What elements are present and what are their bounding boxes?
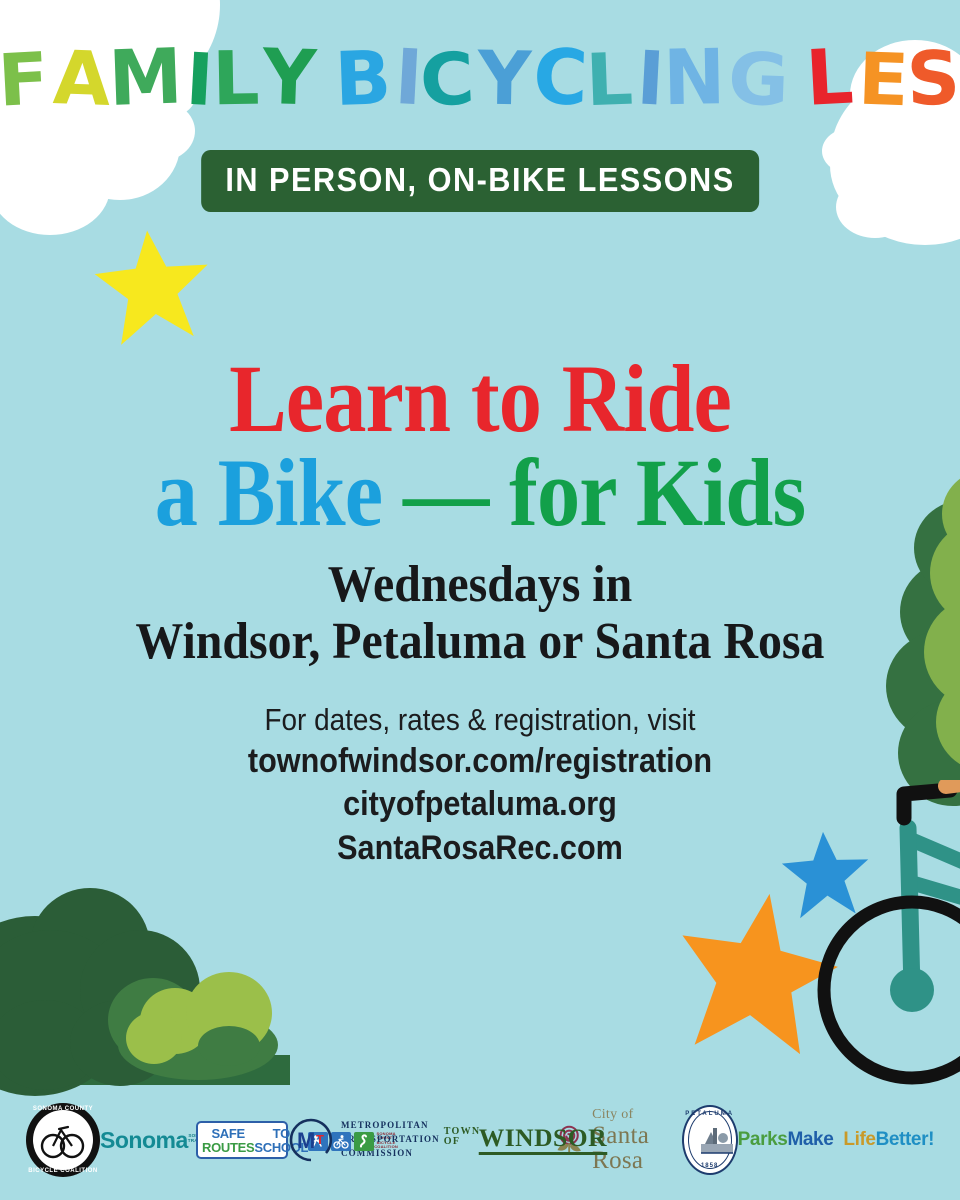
mtc-word-1: METROPOLITAN <box>341 1119 440 1133</box>
windsor-prefix: TOWN OF <box>440 1127 481 1147</box>
title-letter-m-2: M <box>107 39 184 118</box>
svg-text:T: T <box>316 1132 324 1147</box>
registration-block: For dates, rates & registration, visit t… <box>0 700 960 870</box>
title-letter-a-1: A <box>52 41 113 117</box>
parks-word-3: Life <box>833 1131 875 1149</box>
title-letter-space <box>316 42 336 116</box>
subheadline-line-1: Wednesdays in <box>38 556 921 613</box>
logo-parks-make-life-better: Parks Make Life Better! <box>738 1131 934 1149</box>
registration-url-petaluma[interactable]: cityofpetaluma.org <box>48 783 912 827</box>
bush-mid <box>118 1010 278 1080</box>
poster-title: FAMILY BICYCLING LESSONS <box>0 42 960 116</box>
title-letter-f-0: F <box>0 43 52 117</box>
svg-text:M: M <box>297 1128 315 1153</box>
main-headline: Learn to Ride a Bike — for Kids <box>0 352 960 540</box>
title-letter-c-9: C <box>418 43 477 118</box>
headline-dash: — <box>403 439 509 546</box>
title-letter-l-4: L <box>212 42 261 117</box>
title-letter-e-18: E <box>857 43 911 117</box>
cloud <box>836 176 914 238</box>
title-letter-n-14: N <box>662 39 726 116</box>
windsor-wordmark: WINDSOR <box>479 1126 607 1155</box>
headline-for-kids: for Kids <box>509 439 805 546</box>
petaluma-seal-emblem-icon <box>697 1120 737 1160</box>
cloud <box>0 140 110 235</box>
headline-line-1: Learn to Ride <box>48 352 912 446</box>
bush-dark <box>0 1000 100 1090</box>
scbc-badge-icon: SONOMA COUNTY BICYCLE COALITION <box>26 1103 100 1177</box>
logo-go-sonoma: Sonoma SONOMA COUNTY TRANSPORTATION AUTH… <box>100 1123 196 1157</box>
bush-dark <box>30 888 150 1006</box>
srts-routes-word: ROUTES <box>202 1140 254 1155</box>
bush-dark <box>80 930 200 1050</box>
headline-line-2: a Bike — for Kids <box>48 446 912 540</box>
bush-dark <box>0 930 130 1080</box>
parks-word-2: Make <box>787 1131 833 1149</box>
bush-dark <box>0 916 130 1096</box>
title-letter-l-17: L <box>804 39 856 118</box>
headline-a-bike: a Bike <box>155 439 403 546</box>
sponsor-logo-strip: SONOMA COUNTY BICYCLE COALITION <box>0 1080 960 1200</box>
title-letter-s-19: S <box>905 41 960 117</box>
title-letter-y-10: Y <box>477 42 533 117</box>
star-yellow-icon <box>86 222 220 352</box>
star-orange-icon <box>664 879 853 1064</box>
bush-dark <box>70 1000 170 1086</box>
title-letter-c-11: C <box>532 39 590 117</box>
bush-light <box>140 988 210 1054</box>
logo-town-of-windsor: TOWN OF WINDSOR <box>440 1121 552 1159</box>
parks-word-4: Better! <box>876 1131 934 1149</box>
title-letter-b-7: B <box>333 41 393 117</box>
subheadline-line-2: Windsor, Petaluma or Santa Rosa <box>38 613 921 670</box>
accessibility-icon <box>354 1132 374 1151</box>
go-sonoma-wordmark: Sonoma <box>100 1129 188 1152</box>
registration-intro: For dates, rates & registration, visit <box>48 700 912 740</box>
srts-line-1: SAFE ROUTES <box>202 1127 254 1154</box>
petaluma-seal-year: 1858 <box>684 1163 736 1169</box>
bush-light <box>126 1012 182 1064</box>
scbc-ring-top-text: SONOMA COUNTY <box>33 1106 93 1112</box>
cloud <box>822 128 880 174</box>
registration-url-santarosa[interactable]: SantaRosaRec.com <box>48 827 912 871</box>
logo-city-of-petaluma-seal: PETALUMA 1858 <box>682 1105 738 1175</box>
poster-canvas: FAMILY BICYCLING LESSONS IN PERSON, ON-B… <box>0 0 960 1200</box>
petaluma-seal-name: PETALUMA <box>684 1111 736 1117</box>
logo-safe-routes-to-school: SAFE ROUTES TO SCHOOL SONOMA COUNTY BICY… <box>196 1121 288 1159</box>
scbc-ring-bottom-text: BICYCLE COALITION <box>28 1168 98 1174</box>
bush-mid <box>108 978 198 1062</box>
mtc-mark-icon: M T <box>288 1117 334 1163</box>
bush-light <box>186 972 272 1054</box>
parks-word-1: Parks <box>738 1131 788 1149</box>
registration-url-windsor[interactable]: townofwindsor.com/registration <box>48 740 912 784</box>
santa-rosa-prefix: City of <box>592 1108 682 1122</box>
subheadline: Wednesdays in Windsor, Petaluma or Santa… <box>0 556 960 670</box>
subtitle-banner: IN PERSON, ON-BIKE LESSONS <box>201 150 759 212</box>
bush-mid <box>198 1026 260 1066</box>
bicycle-monogram-icon <box>39 1116 87 1164</box>
title-letter-y-5: Y <box>261 39 318 117</box>
title-letter-l-12: L <box>584 43 635 116</box>
logo-sonoma-county-bicycle-coalition: SONOMA COUNTY BICYCLE COALITION <box>26 1103 100 1177</box>
cyclist-icon <box>331 1132 351 1151</box>
cloud <box>830 105 950 225</box>
title-letter-g-15: G <box>727 43 791 117</box>
